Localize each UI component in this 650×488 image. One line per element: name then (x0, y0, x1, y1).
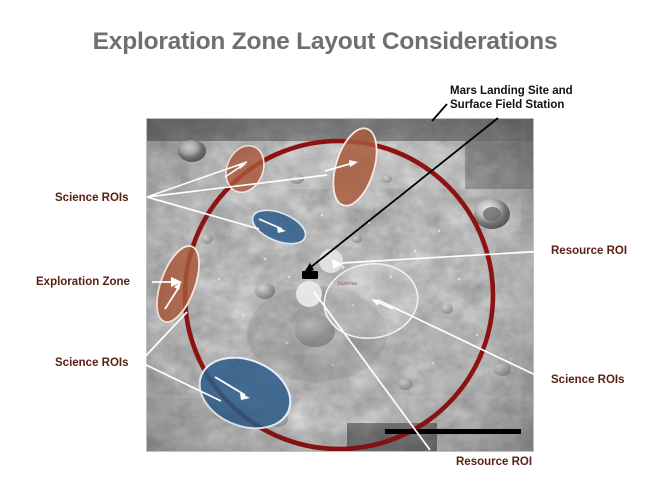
callout-mars-landing-site: Mars Landing Site and Surface Field Stat… (450, 85, 590, 112)
page-title: Exploration Zone Layout Considerations (0, 28, 650, 56)
mars-mosaic-figure: Juventae 70 km (146, 118, 534, 452)
mars-mosaic-svg: Juventae 70 km (147, 119, 534, 452)
callout-resource-roi-bottom: Resource ROI (456, 456, 532, 469)
callout-science-rois-upper-left: Science ROIs (55, 192, 129, 205)
callout-science-rois-right: Science ROIs (551, 374, 625, 387)
callout-resource-roi-right: Resource ROI (551, 245, 627, 258)
slide-canvas: Exploration Zone Layout Considerations (0, 0, 650, 488)
callout-exploration-zone: Exploration Zone (36, 276, 130, 289)
callout-science-rois-lower-left: Science ROIs (55, 357, 129, 370)
